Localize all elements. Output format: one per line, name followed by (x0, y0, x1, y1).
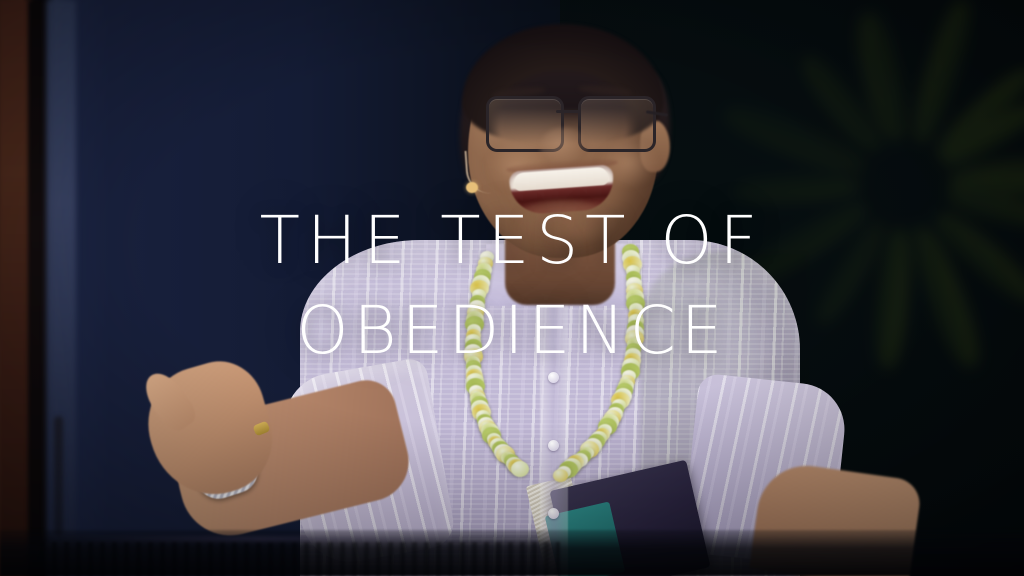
vignette (0, 0, 1024, 576)
sermon-title-card: THE TEST OF OBEDIENCE (0, 0, 1024, 576)
